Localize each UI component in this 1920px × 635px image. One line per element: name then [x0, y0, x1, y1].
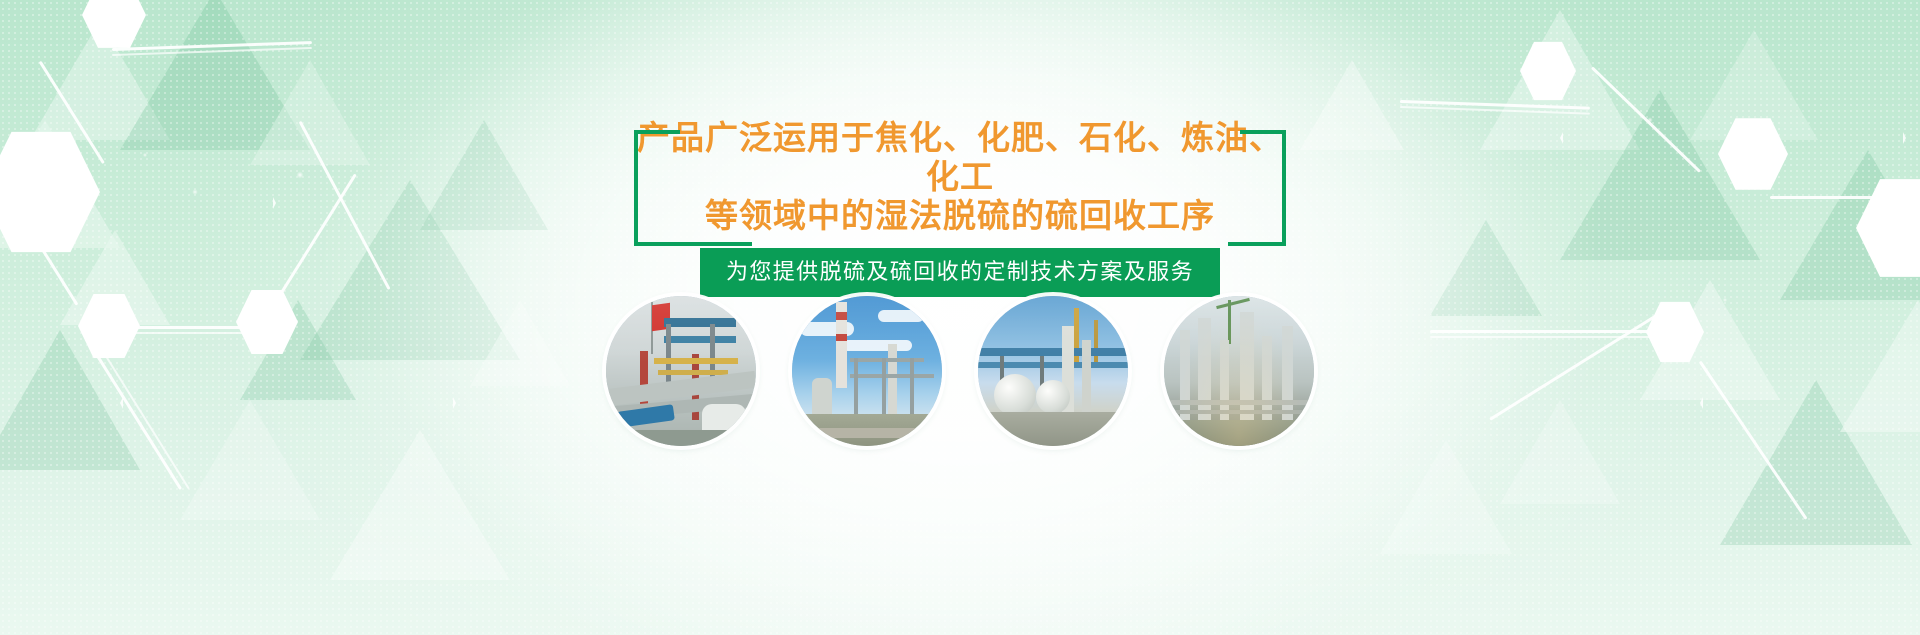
photo-desulfurization-piping-plant — [606, 296, 756, 446]
decorative-frame: 产品广泛运用于焦化、化肥、石化、炼油、化工 等领域中的湿法脱硫的硫回收工序 — [634, 108, 1286, 235]
frame-rule-top-left — [634, 130, 680, 134]
photo-chimney-stack-plant — [792, 296, 942, 446]
frame-rule-bottom-left — [634, 242, 752, 246]
hero-banner: 产品广泛运用于焦化、化肥、石化、炼油、化工 等领域中的湿法脱硫的硫回收工序 为您… — [0, 0, 1920, 635]
headline: 产品广泛运用于焦化、化肥、石化、炼油、化工 等领域中的湿法脱硫的硫回收工序 — [634, 114, 1286, 235]
photo-circle-row — [0, 296, 1920, 446]
frame-rule-bottom-right — [1228, 242, 1286, 246]
photo-refinery-columns-plant — [1164, 296, 1314, 446]
photo-spherical-tank-plant — [978, 296, 1128, 446]
headline-line-2: 等领域中的湿法脱硫的硫回收工序 — [634, 196, 1286, 235]
frame-rule-right — [1282, 130, 1286, 246]
green-ribbon-tagline: 为您提供脱硫及硫回收的定制技术方案及服务 — [700, 248, 1220, 297]
headline-line-1: 产品广泛运用于焦化、化肥、石化、炼油、化工 — [637, 119, 1283, 195]
banner-copy-block: 产品广泛运用于焦化、化肥、石化、炼油、化工 等领域中的湿法脱硫的硫回收工序 为您… — [0, 108, 1920, 297]
frame-rule-top-right — [1240, 130, 1286, 134]
frame-rule-left — [634, 130, 638, 246]
